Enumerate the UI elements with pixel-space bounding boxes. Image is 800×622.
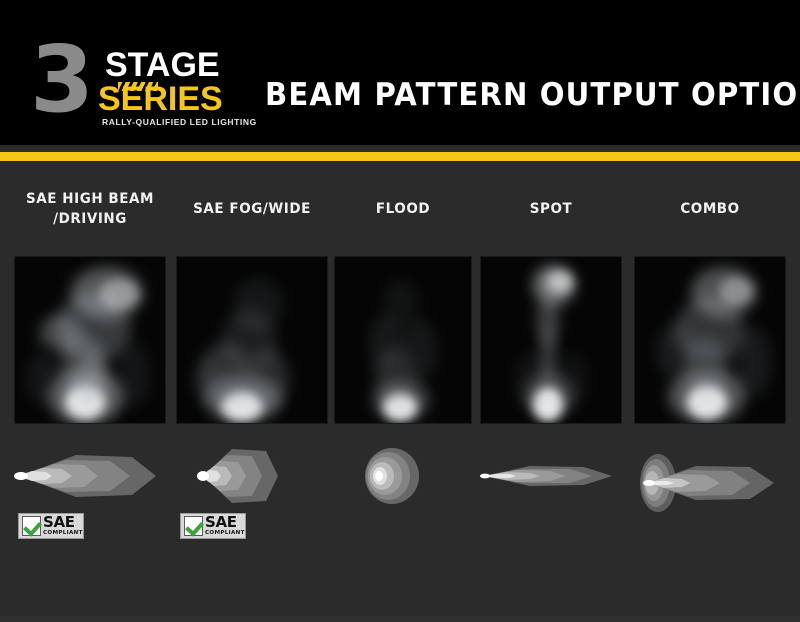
column-label-line1: SAE HIGH BEAM — [26, 191, 154, 207]
sae-badge-main-label: SAE — [205, 515, 245, 530]
bottom-edge-strip — [0, 616, 800, 622]
sae-compliant-badge: SAE COMPLIANT — [18, 513, 84, 539]
column-label: SAE HIGH BEAM /DRIVING — [19, 189, 160, 229]
beam-diagram-sae-fog-wide — [176, 443, 328, 509]
check-icon — [184, 516, 203, 536]
column-label: SPOT — [485, 199, 617, 219]
sae-compliant-badge-slot-2: SAE COMPLIANT — [180, 513, 246, 539]
logo-tagline: RALLY-QUALIFIED LED LIGHTING — [102, 118, 257, 127]
sae-badge-sub-label: COMPLIANT — [43, 531, 83, 537]
beam-diagram-combo — [634, 443, 786, 509]
beam-diagram-flood — [334, 443, 472, 509]
column-label: COMBO — [639, 199, 780, 219]
beam-photo-flood — [334, 256, 472, 424]
logo-word-stage: STAGE — [105, 48, 220, 82]
logo-word-series: SERIES — [98, 82, 223, 116]
column-label-line1: SPOT — [530, 201, 573, 217]
stage-series-logo: 3 STAGE SERIES RALLY-QUALIFIED LED LIGHT… — [30, 32, 240, 132]
column-label-line2: /DRIVING — [53, 211, 127, 227]
column-label-line1: COMBO — [680, 201, 739, 217]
column-label-line1: SAE FOG/WIDE — [193, 201, 311, 217]
column-label: FLOOD — [339, 199, 467, 219]
column-label-line1: FLOOD — [376, 201, 430, 217]
sae-badge-sub-label: COMPLIANT — [205, 531, 245, 537]
check-icon — [22, 516, 41, 536]
beam-photo-sae-high-beam-driving — [14, 256, 166, 424]
column-label: SAE FOG/WIDE — [181, 199, 322, 219]
beam-photo-spot — [480, 256, 622, 424]
beam-diagram-spot — [480, 443, 622, 509]
logo-numeral: 3 — [30, 34, 90, 126]
beam-pattern-grid: SAE HIGH BEAM /DRIVING — [0, 161, 800, 622]
sae-compliant-badge-slot-1: SAE COMPLIANT — [18, 513, 84, 539]
beam-photo-sae-fog-wide — [176, 256, 328, 424]
header-divider — [0, 152, 800, 161]
header-banner: 3 STAGE SERIES RALLY-QUALIFIED LED LIGHT… — [0, 0, 800, 145]
beam-diagram-sae-high-beam-driving — [14, 443, 166, 509]
beam-photo-combo — [634, 256, 786, 424]
sae-compliant-badge: SAE COMPLIANT — [180, 513, 246, 539]
sae-badge-main-label: SAE — [43, 515, 83, 530]
page-title: BEAM PATTERN OUTPUT OPTIONS — [265, 78, 800, 112]
